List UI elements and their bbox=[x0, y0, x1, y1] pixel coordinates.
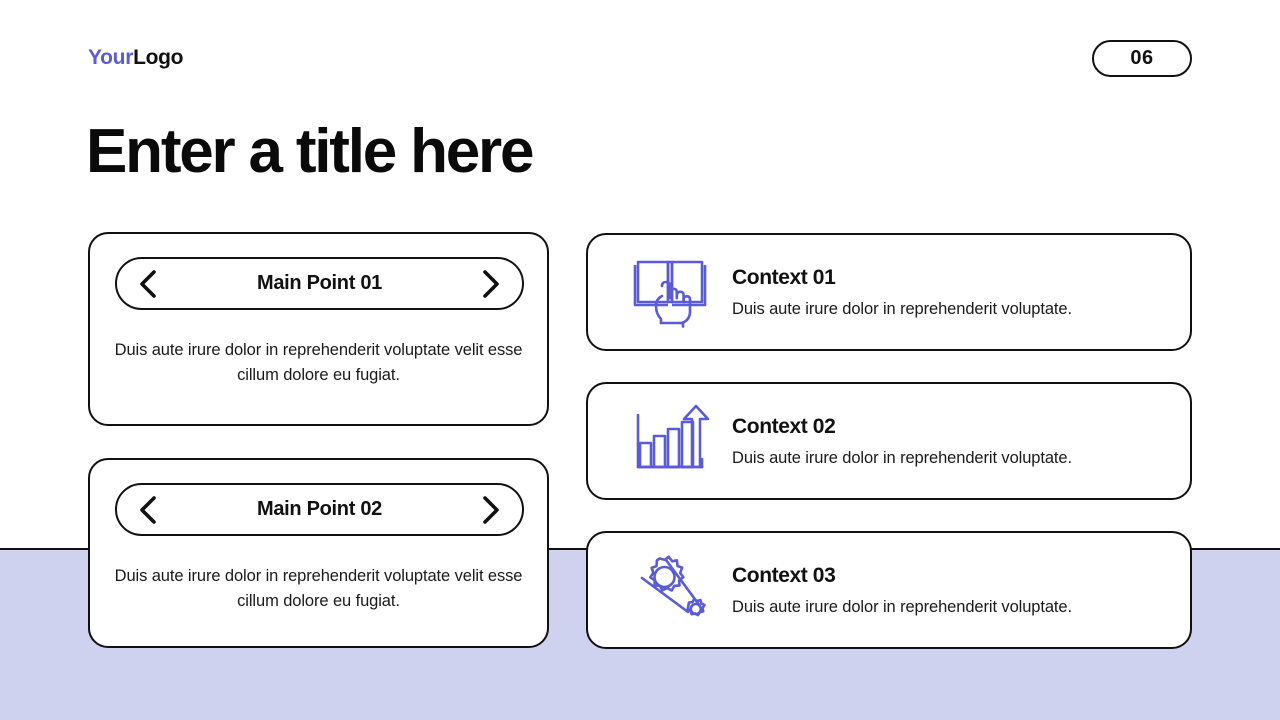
chevron-left-icon[interactable] bbox=[137, 495, 159, 525]
context-description-3: Duis aute irure dolor in reprehenderit v… bbox=[732, 596, 1166, 618]
bar-chart-growth-arrow-icon bbox=[622, 393, 718, 489]
context-card-2[interactable]: Context 02 Duis aute irure dolor in repr… bbox=[586, 382, 1192, 500]
page-number-badge: 06 bbox=[1092, 40, 1192, 77]
chevron-right-icon[interactable] bbox=[480, 495, 502, 525]
main-point-label-1: Main Point 01 bbox=[159, 272, 480, 295]
slide-canvas: YourLogo 06 Enter a title here Main Poin… bbox=[0, 0, 1280, 720]
main-point-description-2: Duis aute irure dolor in reprehenderit v… bbox=[114, 564, 523, 614]
context-title-3: Context 03 bbox=[732, 562, 1166, 590]
context-card-1[interactable]: Context 01 Duis aute irure dolor in repr… bbox=[586, 233, 1192, 351]
context-text-3: Context 03 Duis aute irure dolor in repr… bbox=[718, 562, 1190, 618]
logo-accent-text: Your bbox=[88, 46, 133, 69]
main-point-pill-1[interactable]: Main Point 01 bbox=[115, 257, 524, 310]
gears-belt-icon bbox=[622, 542, 718, 638]
chevron-left-icon[interactable] bbox=[137, 269, 159, 299]
main-point-label-2: Main Point 02 bbox=[159, 498, 480, 521]
context-card-3[interactable]: Context 03 Duis aute irure dolor in repr… bbox=[586, 531, 1192, 649]
logo[interactable]: YourLogo bbox=[88, 44, 183, 72]
main-point-description-1: Duis aute irure dolor in reprehenderit v… bbox=[114, 338, 523, 388]
logo-rest-text: Logo bbox=[133, 46, 183, 69]
page-title: Enter a title here bbox=[86, 112, 532, 192]
context-text-1: Context 01 Duis aute irure dolor in repr… bbox=[718, 264, 1190, 320]
context-description-2: Duis aute irure dolor in reprehenderit v… bbox=[732, 447, 1166, 469]
context-description-1: Duis aute irure dolor in reprehenderit v… bbox=[732, 298, 1166, 320]
context-title-1: Context 01 bbox=[732, 264, 1166, 292]
chevron-right-icon[interactable] bbox=[480, 269, 502, 299]
context-text-2: Context 02 Duis aute irure dolor in repr… bbox=[718, 413, 1190, 469]
open-book-hand-icon bbox=[622, 244, 718, 340]
page-number-text: 06 bbox=[1130, 47, 1153, 70]
main-point-pill-2[interactable]: Main Point 02 bbox=[115, 483, 524, 536]
main-point-card-1: Main Point 01 Duis aute irure dolor in r… bbox=[88, 232, 549, 426]
main-point-card-2: Main Point 02 Duis aute irure dolor in r… bbox=[88, 458, 549, 648]
context-title-2: Context 02 bbox=[732, 413, 1166, 441]
